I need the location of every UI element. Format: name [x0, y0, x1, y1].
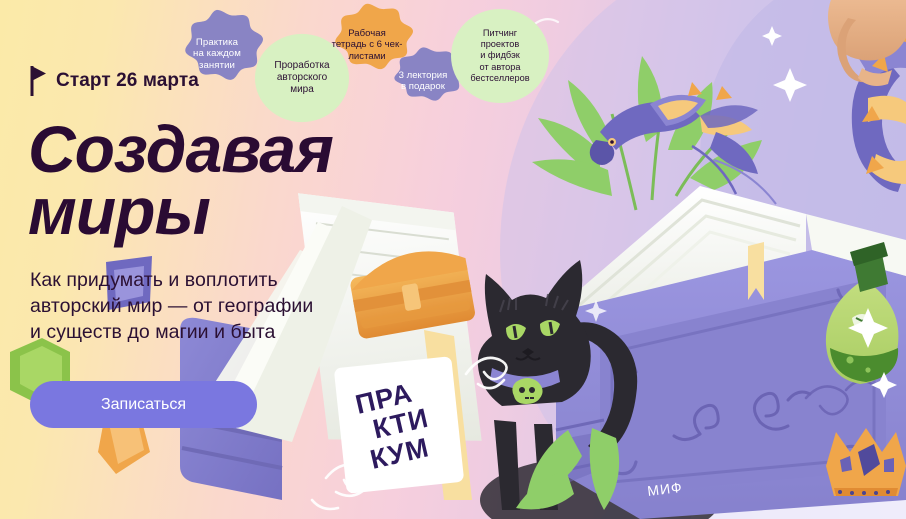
- headline-line-2: миры: [28, 180, 333, 242]
- course-promo-banner: МИФ: [0, 0, 906, 519]
- subtitle-line-1: Как придумать и воплотить: [30, 268, 313, 294]
- badge-workbook-text: Рабочая тетрадь с 6 чек- листами: [326, 28, 409, 62]
- badge-world-building-text: Проработка авторского мира: [268, 60, 335, 95]
- badge-pitch-text: Питчинг проектов и фидбэк от автора бест…: [464, 28, 535, 84]
- page-title: Создавая миры: [28, 118, 333, 242]
- subtitle-line-3: и существ до магии и быта: [30, 320, 313, 346]
- badge-lectures-text: 3 лектория в подарок: [393, 70, 454, 93]
- feature-badges: Практика на каждом занятии Проработка ав…: [0, 0, 906, 125]
- start-date-row: Старт 26 марта: [30, 66, 199, 96]
- enroll-button[interactable]: Записаться: [30, 381, 257, 428]
- headline-line-1: Создавая: [28, 118, 333, 180]
- flag-icon: [30, 66, 47, 96]
- subtitle: Как придумать и воплотить авторский мир …: [30, 268, 313, 346]
- start-date-label: Старт 26 марта: [56, 70, 199, 92]
- subtitle-line-2: авторский мир — от географии: [30, 294, 313, 320]
- sticker-text: ПРА КТИ КУМ: [330, 353, 468, 498]
- badge-pitch: Питчинг проектов и фидбэк от автора бест…: [450, 8, 550, 104]
- praktikum-sticker: ПРА КТИ КУМ: [330, 353, 468, 498]
- book-spine-text: МИФ: [646, 479, 683, 499]
